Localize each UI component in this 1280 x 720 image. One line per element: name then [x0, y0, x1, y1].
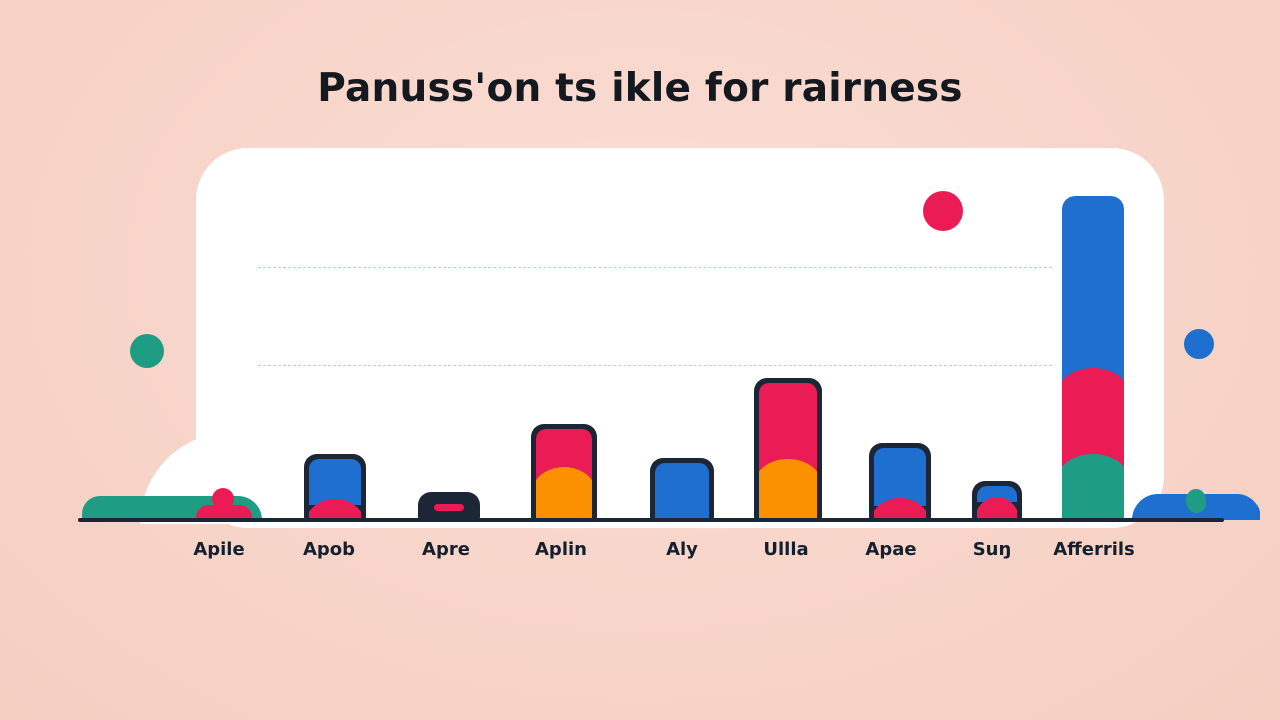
- decorative-crimson-dot-small: [212, 488, 234, 510]
- bar-apre: [418, 492, 480, 520]
- x-tick-label: Afferrils: [1019, 539, 1169, 560]
- bar-inner: [423, 497, 475, 520]
- bar-apae: [869, 443, 931, 520]
- gridline-upper: [258, 267, 1052, 268]
- chart-illustration: Panuss'on ts ikle for rairness ApileApob…: [0, 0, 1280, 720]
- bar-segment: [759, 459, 817, 520]
- axis-baseline: [78, 518, 1224, 522]
- bar-inner: [1062, 196, 1124, 520]
- bar-inner: [309, 459, 361, 520]
- bar-ullla: [754, 378, 822, 520]
- decorative-crimson-dot: [923, 191, 963, 231]
- bar-apob: [304, 454, 366, 520]
- page-title: Panuss'on ts ikle for rairness: [0, 66, 1280, 111]
- bar-segment: [434, 504, 463, 511]
- gridline-lower: [258, 365, 1052, 366]
- decorative-blue-dot: [1184, 329, 1214, 359]
- bar-inner: [655, 463, 709, 520]
- bar-inner: [759, 383, 817, 520]
- bar-inner: [874, 448, 926, 520]
- bar-suŋ: [972, 481, 1022, 520]
- bar-segment: [1062, 454, 1124, 520]
- bar-segment: [536, 467, 592, 520]
- bar-aly: [650, 458, 714, 520]
- bar-afferrils: [1062, 196, 1124, 520]
- decorative-teal-blob: [1186, 489, 1206, 513]
- bar-inner: [536, 429, 592, 520]
- bar-segment: [655, 463, 709, 520]
- bar-inner: [977, 486, 1017, 520]
- decorative-teal-dot: [130, 334, 164, 368]
- bar-aplin: [531, 424, 597, 520]
- bar-segment: [1062, 196, 1124, 396]
